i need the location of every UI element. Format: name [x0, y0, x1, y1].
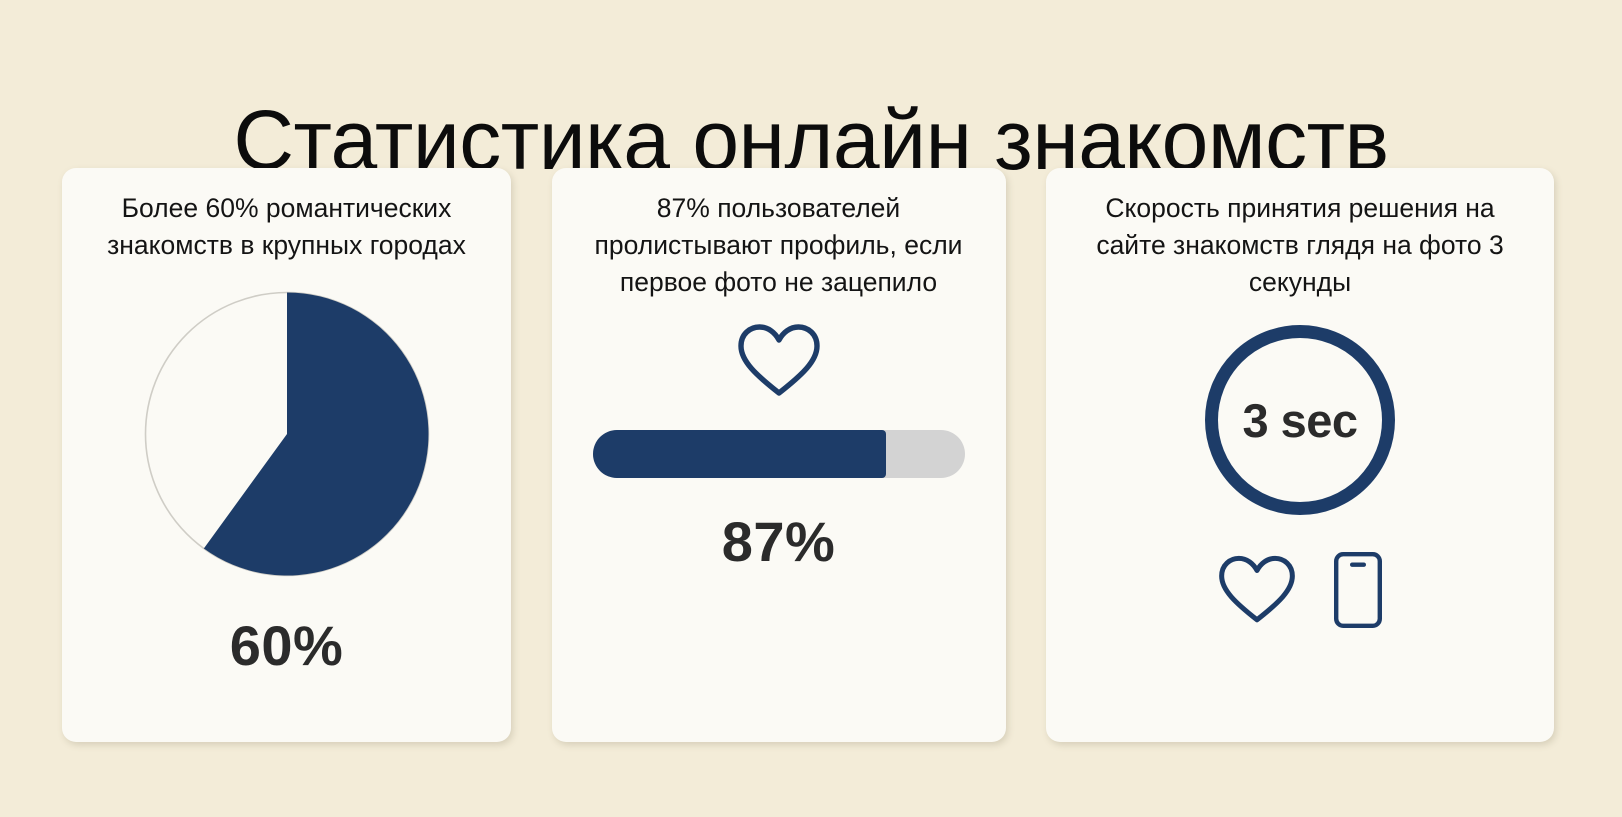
stat-value-cities: 60%	[62, 616, 511, 676]
pie-chart	[143, 290, 431, 578]
card-caption-decision-speed: Скорость принятия решения на сайте знако…	[1080, 190, 1520, 301]
progress-bar	[593, 430, 965, 478]
pie-chart-svg	[143, 290, 431, 578]
heart-icon	[736, 323, 822, 404]
smartphone-icon	[1333, 551, 1383, 634]
stat-cards-row: Более 60% романтических знакомств в круп…	[62, 168, 1554, 742]
stat-value-first-photo: 87%	[722, 512, 836, 572]
progress-bar-fill	[593, 430, 887, 478]
infographic-root: Статистика онлайн знакомств Более 60% ро…	[0, 0, 1622, 817]
card-caption-cities: Более 60% романтических знакомств в круп…	[87, 190, 487, 264]
stat-value-decision-speed: 3 sec	[1205, 325, 1395, 515]
smartphone-icon-svg	[1333, 551, 1383, 629]
icon-pair	[1217, 551, 1383, 634]
card-caption-first-photo: 87% пользователей пролистывают профиль, …	[579, 190, 979, 301]
stat-card-cities: Более 60% романтических знакомств в круп…	[62, 168, 511, 742]
stat-card-decision-speed: Скорость принятия решения на сайте знако…	[1046, 168, 1554, 742]
stat-card-first-photo: 87% пользователей пролистывают профиль, …	[552, 168, 1006, 742]
heart-icon	[1217, 554, 1297, 631]
timer-circle: 3 sec	[1205, 325, 1395, 515]
heart-icon-svg	[1217, 554, 1297, 626]
heart-icon-svg	[736, 323, 822, 399]
